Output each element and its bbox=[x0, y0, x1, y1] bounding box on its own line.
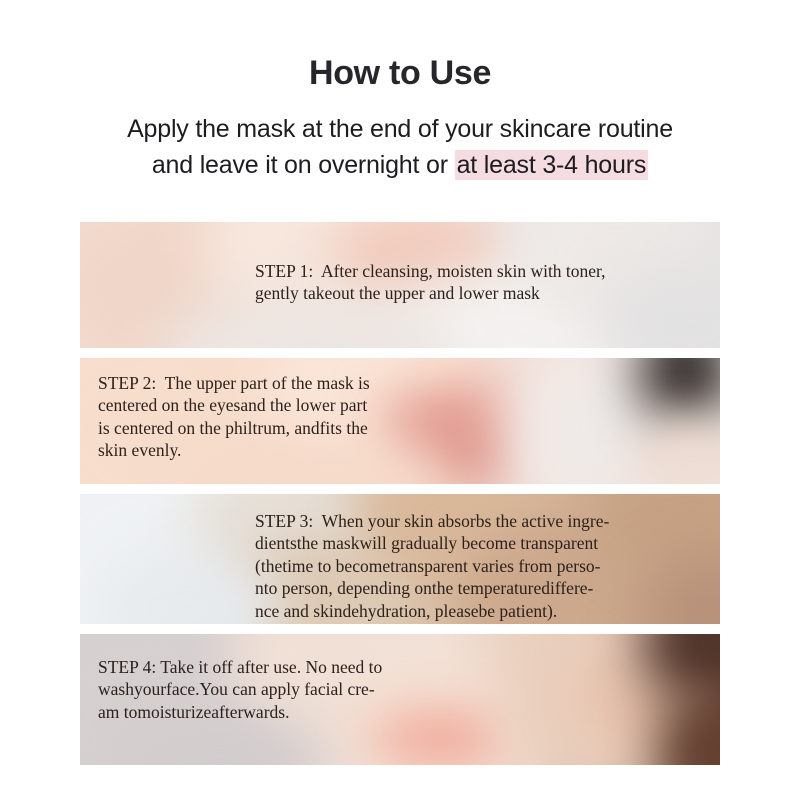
page-subtitle: Apply the mask at the end of your skinca… bbox=[0, 112, 800, 183]
step-1-label: STEP 1: bbox=[255, 261, 321, 281]
step-panel-1: STEP 1: After cleansing, moisten skin wi… bbox=[80, 222, 720, 348]
step-2-label: STEP 2: bbox=[98, 373, 165, 393]
step-4-label: STEP 4: bbox=[98, 657, 160, 677]
step-2-text: STEP 2: The upper part of the mask is ce… bbox=[80, 358, 720, 462]
page-header: How to Use Apply the mask at the end of … bbox=[0, 0, 800, 183]
subtitle-line-2-prefix: and leave it on overnight or bbox=[152, 151, 455, 179]
subtitle-highlight: at least 3-4 hours bbox=[455, 150, 649, 180]
step-4-text: STEP 4: Take it off after use. No need t… bbox=[80, 634, 720, 723]
page-title: How to Use bbox=[0, 56, 800, 90]
subtitle-line-2: and leave it on overnight or at least 3-… bbox=[0, 148, 800, 184]
step-1-text: STEP 1: After cleansing, moisten skin wi… bbox=[80, 222, 720, 305]
step-3-label: STEP 3: bbox=[255, 511, 322, 531]
step-panel-3: STEP 3: When your skin absorbs the activ… bbox=[80, 494, 720, 624]
steps-list: STEP 1: After cleansing, moisten skin wi… bbox=[80, 222, 720, 765]
step-panel-4: STEP 4: Take it off after use. No need t… bbox=[80, 634, 720, 765]
subtitle-line-1: Apply the mask at the end of your skinca… bbox=[0, 112, 800, 148]
step-panel-2: STEP 2: The upper part of the mask is ce… bbox=[80, 358, 720, 484]
step-3-text: STEP 3: When your skin absorbs the activ… bbox=[80, 494, 720, 622]
